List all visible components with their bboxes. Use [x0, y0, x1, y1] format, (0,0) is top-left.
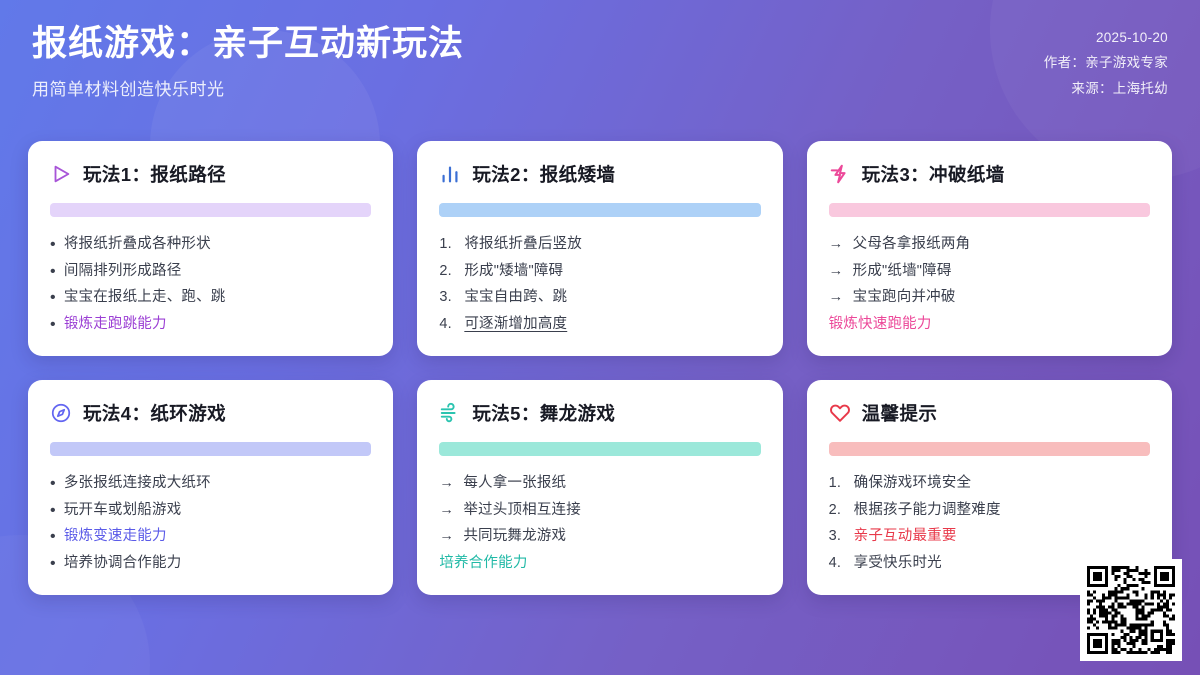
list-item-text: 多张报纸连接成大纸环	[64, 474, 211, 494]
list-item: •培养协调合作能力	[50, 554, 371, 574]
card-3[interactable]: 玩法3：冲破纸墙→父母各拿报纸两角→形成"纸墙"障碍→宝宝跑向并冲破锻炼快速跑能…	[807, 141, 1172, 356]
lightning-icon	[829, 163, 851, 185]
list-number: 2.	[439, 262, 456, 282]
accent-bar	[829, 203, 1150, 217]
list-item: 2.形成"矮墙"障碍	[439, 262, 760, 282]
list-item: →形成"纸墙"障碍	[829, 262, 1150, 282]
bullet-icon: •	[50, 476, 56, 492]
source-label: 来源：上海托幼	[1071, 77, 1168, 97]
list-item-text: 培养合作能力	[439, 554, 527, 574]
list-item: →举过头顶相互连接	[439, 501, 760, 521]
list-item-text: 亲子互动最重要	[854, 527, 957, 547]
card-2[interactable]: 玩法2：报纸矮墙1.将报纸折叠后竖放2.形成"矮墙"障碍3.宝宝自由跨、跳4.可…	[417, 141, 782, 356]
list-number: 1.	[439, 235, 456, 255]
list-item: 锻炼快速跑能力	[829, 315, 1150, 335]
list-item: •间隔排列形成路径	[50, 262, 371, 282]
list-item-text: 锻炼变速走能力	[64, 527, 167, 547]
bullet-icon: •	[50, 237, 56, 253]
bullet-icon: •	[50, 317, 56, 333]
list-item-text: 宝宝自由跨、跳	[464, 288, 567, 308]
card-header: 玩法1：报纸路径	[50, 161, 371, 187]
list-number: 1.	[829, 474, 846, 494]
header-meta: 2025-10-20 作者：亲子游戏专家 来源：上海托幼	[1044, 22, 1168, 97]
card-4[interactable]: 玩法4：纸环游戏•多张报纸连接成大纸环•玩开车或划船游戏•锻炼变速走能力•培养协…	[28, 380, 393, 595]
arrow-icon: →	[829, 288, 845, 308]
card-item-list: →每人拿一张报纸→举过头顶相互连接→共同玩舞龙游戏培养合作能力	[439, 474, 760, 573]
list-item-text: 享受快乐时光	[854, 554, 942, 574]
heart-icon	[829, 402, 851, 424]
list-item: 2.根据孩子能力调整难度	[829, 501, 1150, 521]
accent-bar	[439, 442, 760, 456]
card-title: 玩法2：报纸矮墙	[472, 161, 615, 187]
author-label: 作者：亲子游戏专家	[1044, 51, 1168, 71]
card-title: 玩法4：纸环游戏	[83, 400, 226, 426]
card-1[interactable]: 玩法1：报纸路径•将报纸折叠成各种形状•间隔排列形成路径•宝宝在报纸上走、跑、跳…	[28, 141, 393, 356]
list-item-text: 宝宝在报纸上走、跑、跳	[64, 288, 226, 308]
card-title: 玩法5：舞龙游戏	[472, 400, 615, 426]
accent-bar	[50, 442, 371, 456]
arrow-icon: →	[439, 474, 455, 494]
list-item-text: 培养协调合作能力	[64, 554, 182, 574]
list-item: •锻炼变速走能力	[50, 527, 371, 547]
card-header: 玩法4：纸环游戏	[50, 400, 371, 426]
list-number: 3.	[439, 288, 456, 308]
list-item-text: 将报纸折叠后竖放	[464, 235, 582, 255]
bullet-icon: •	[50, 529, 56, 545]
compass-icon	[50, 402, 72, 424]
list-item-text: 间隔排列形成路径	[64, 262, 182, 282]
list-number: 3.	[829, 527, 846, 547]
bullet-icon: •	[50, 290, 56, 306]
list-item: 1.确保游戏环境安全	[829, 474, 1150, 494]
list-item-text: 形成"矮墙"障碍	[464, 262, 563, 282]
list-item: →共同玩舞龙游戏	[439, 527, 760, 547]
list-item: →宝宝跑向并冲破	[829, 288, 1150, 308]
card-header: 温馨提示	[829, 400, 1150, 426]
arrow-icon: →	[439, 527, 455, 547]
list-item-text: 每人拿一张报纸	[463, 474, 566, 494]
list-item-text: 锻炼走跑跳能力	[64, 315, 167, 335]
arrow-icon: →	[439, 501, 455, 521]
bullet-icon: •	[50, 264, 56, 280]
card-5[interactable]: 玩法5：舞龙游戏→每人拿一张报纸→举过头顶相互连接→共同玩舞龙游戏培养合作能力	[417, 380, 782, 595]
list-item-text: 父母各拿报纸两角	[853, 235, 971, 255]
list-item-text: 可逐渐增加高度	[464, 315, 567, 335]
qr-code[interactable]	[1080, 559, 1182, 661]
bar-chart-icon	[439, 163, 461, 185]
arrow-icon: →	[829, 235, 845, 255]
card-item-list: •将报纸折叠成各种形状•间隔排列形成路径•宝宝在报纸上走、跑、跳•锻炼走跑跳能力	[50, 235, 371, 334]
list-item: →父母各拿报纸两角	[829, 235, 1150, 255]
page-title: 报纸游戏：亲子互动新玩法	[32, 22, 464, 66]
list-item: 1.将报纸折叠后竖放	[439, 235, 760, 255]
list-item-text: 锻炼快速跑能力	[829, 315, 932, 335]
list-item-text: 确保游戏环境安全	[854, 474, 972, 494]
list-item-text: 宝宝跑向并冲破	[853, 288, 956, 308]
list-item: •宝宝在报纸上走、跑、跳	[50, 288, 371, 308]
list-item: •玩开车或划船游戏	[50, 501, 371, 521]
card-header: 玩法3：冲破纸墙	[829, 161, 1150, 187]
card-item-list: →父母各拿报纸两角→形成"纸墙"障碍→宝宝跑向并冲破锻炼快速跑能力	[829, 235, 1150, 334]
card-item-list: •多张报纸连接成大纸环•玩开车或划船游戏•锻炼变速走能力•培养协调合作能力	[50, 474, 371, 573]
list-item: •锻炼走跑跳能力	[50, 315, 371, 335]
list-number: 4.	[439, 315, 456, 335]
list-item: •将报纸折叠成各种形状	[50, 235, 371, 255]
header-titles: 报纸游戏：亲子互动新玩法 用简单材料创造快乐时光	[32, 22, 464, 100]
list-item-text: 共同玩舞龙游戏	[463, 527, 566, 547]
accent-bar	[50, 203, 371, 217]
list-item: 培养合作能力	[439, 554, 760, 574]
accent-bar	[439, 203, 760, 217]
bullet-icon: •	[50, 503, 56, 519]
card-title: 玩法3：冲破纸墙	[862, 161, 1005, 187]
list-item-text: 根据孩子能力调整难度	[854, 501, 1001, 521]
list-item: →每人拿一张报纸	[439, 474, 760, 494]
list-number: 2.	[829, 501, 846, 521]
list-item: 3.亲子互动最重要	[829, 527, 1150, 547]
list-item-text: 形成"纸墙"障碍	[853, 262, 952, 282]
list-item-text: 玩开车或划船游戏	[64, 501, 182, 521]
page-subtitle: 用简单材料创造快乐时光	[32, 75, 464, 100]
card-title: 温馨提示	[862, 400, 938, 426]
publish-date: 2025-10-20	[1096, 30, 1168, 45]
card-item-list: 1.将报纸折叠后竖放2.形成"矮墙"障碍3.宝宝自由跨、跳4.可逐渐增加高度	[439, 235, 760, 334]
list-item: •多张报纸连接成大纸环	[50, 474, 371, 494]
list-item-text: 举过头顶相互连接	[463, 501, 581, 521]
list-number: 4.	[829, 554, 846, 574]
card-header: 玩法5：舞龙游戏	[439, 400, 760, 426]
arrow-icon: →	[829, 262, 845, 282]
page-header: 报纸游戏：亲子互动新玩法 用简单材料创造快乐时光 2025-10-20 作者：亲…	[0, 0, 1200, 128]
list-item: 4.可逐渐增加高度	[439, 315, 760, 335]
card-title: 玩法1：报纸路径	[83, 161, 226, 187]
qr-code-image	[1087, 566, 1175, 654]
bullet-icon: •	[50, 556, 56, 572]
accent-bar	[829, 442, 1150, 456]
list-item-text: 将报纸折叠成各种形状	[64, 235, 211, 255]
card-grid: 玩法1：报纸路径•将报纸折叠成各种形状•间隔排列形成路径•宝宝在报纸上走、跑、跳…	[0, 141, 1200, 595]
wind-icon	[439, 402, 461, 424]
list-item: 3.宝宝自由跨、跳	[439, 288, 760, 308]
card-header: 玩法2：报纸矮墙	[439, 161, 760, 187]
play-icon	[50, 163, 72, 185]
